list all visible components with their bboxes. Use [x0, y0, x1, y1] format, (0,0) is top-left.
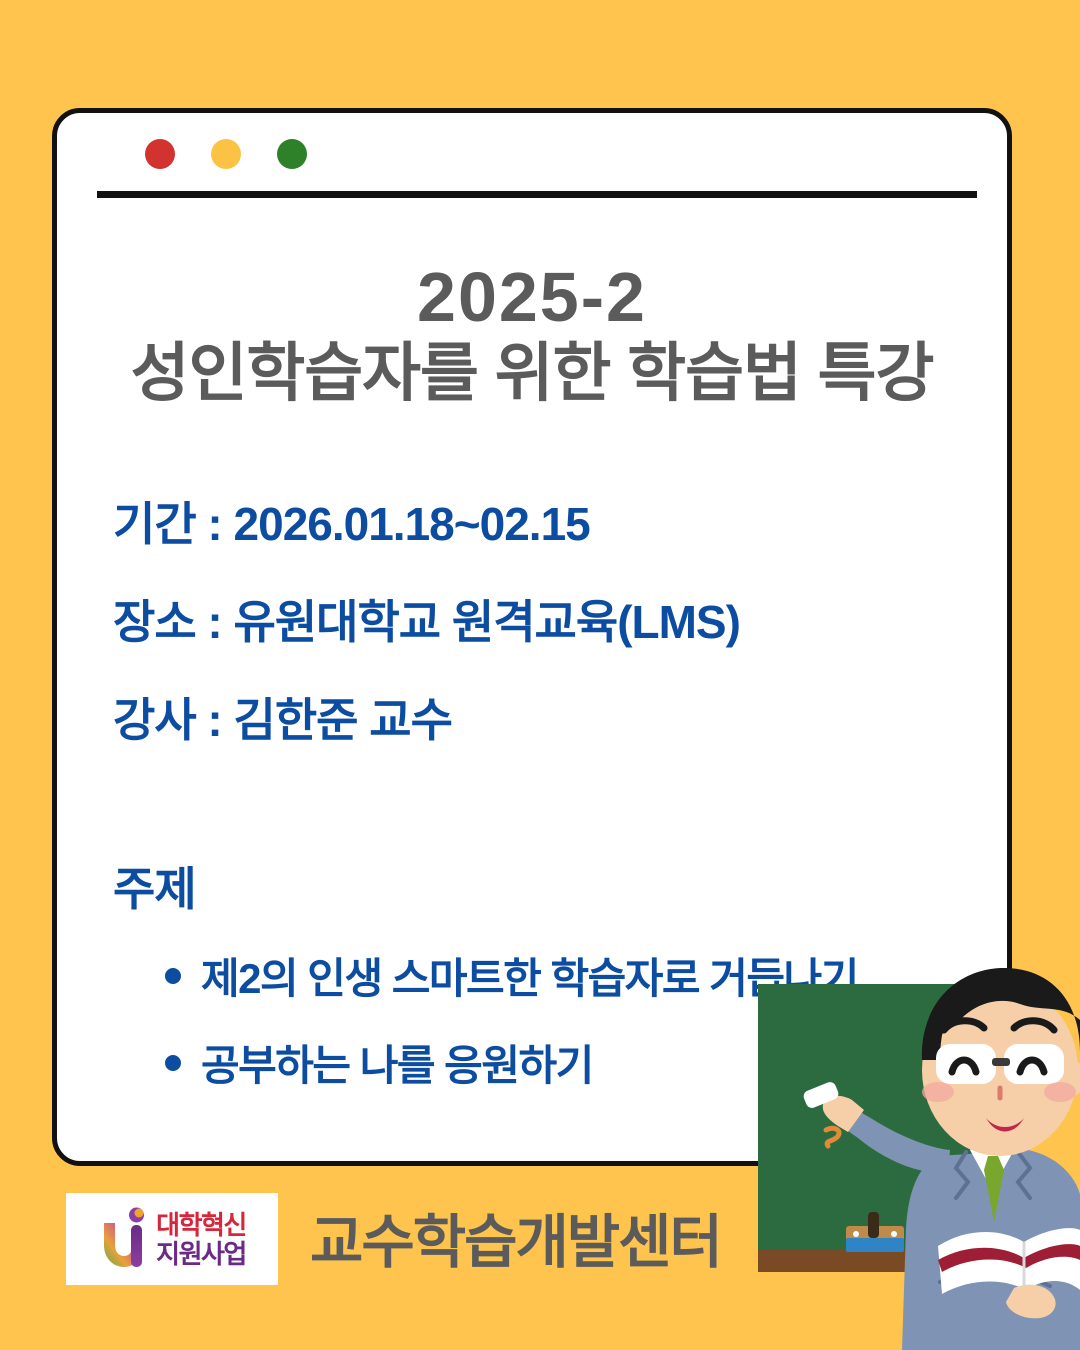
university-innovation-logo: 대학혁신 지원사업: [66, 1193, 278, 1285]
list-item: 제2의 인생 스마트한 학습자로 거듭나기: [165, 945, 1012, 1006]
info-label-instructor: 강사 :: [113, 694, 234, 746]
topic-section: 주제 제2의 인생 스마트한 학습자로 거듭나기 공부하는 나를 응원하기: [113, 853, 1012, 1119]
info-value-place: 유원대학교 원격교육(LMS): [234, 596, 740, 648]
browser-card: 2025-2 성인학습자를 위한 학습법 특강 기간 : 2026.01.18~…: [52, 108, 1012, 1166]
page-title: 2025-2 성인학습자를 위한 학습법 특강: [57, 261, 1007, 406]
logo-line-2: 지원사업: [156, 1241, 246, 1267]
window-controls: [145, 139, 307, 169]
maximize-button-icon[interactable]: [277, 139, 307, 169]
list-item: 공부하는 나를 응원하기: [165, 1032, 1012, 1093]
info-value-instructor: 김한준 교수: [234, 694, 452, 746]
info-value-period: 2026.01.18~02.15: [234, 498, 590, 550]
info-label-period: 기간 :: [113, 498, 234, 550]
info-row-period: 기간 : 2026.01.18~02.15: [113, 488, 993, 554]
info-row-place: 장소 : 유원대학교 원격교육(LMS): [113, 586, 993, 652]
info-label-place: 장소 :: [113, 596, 234, 648]
logo-text: 대학혁신 지원사업: [156, 1212, 246, 1267]
info-list: 기간 : 2026.01.18~02.15 장소 : 유원대학교 원격교육(LM…: [113, 488, 993, 782]
logo-line-1: 대학혁신: [156, 1212, 246, 1238]
close-button-icon[interactable]: [145, 139, 175, 169]
center-name: 교수학습개발센터: [310, 1195, 721, 1279]
bullet-icon: [165, 968, 181, 984]
topic-heading: 주제: [113, 853, 1012, 919]
info-row-instructor: 강사 : 김한준 교수: [113, 684, 993, 750]
topic-item-label: 제2의 인생 스마트한 학습자로 거듭나기: [201, 945, 858, 1006]
footer: 대학혁신 지원사업 교수학습개발센터: [0, 1165, 1080, 1350]
logo-u-mark: [98, 1207, 150, 1271]
header-divider: [97, 191, 977, 198]
bullet-icon: [165, 1055, 181, 1071]
minimize-button-icon[interactable]: [211, 139, 241, 169]
poster-root: 2025-2 성인학습자를 위한 학습법 특강 기간 : 2026.01.18~…: [0, 0, 1080, 1350]
title-main: 성인학습자를 위한 학습법 특강: [57, 340, 1007, 407]
topic-item-label: 공부하는 나를 응원하기: [201, 1032, 593, 1093]
title-year: 2025-2: [57, 261, 1007, 334]
